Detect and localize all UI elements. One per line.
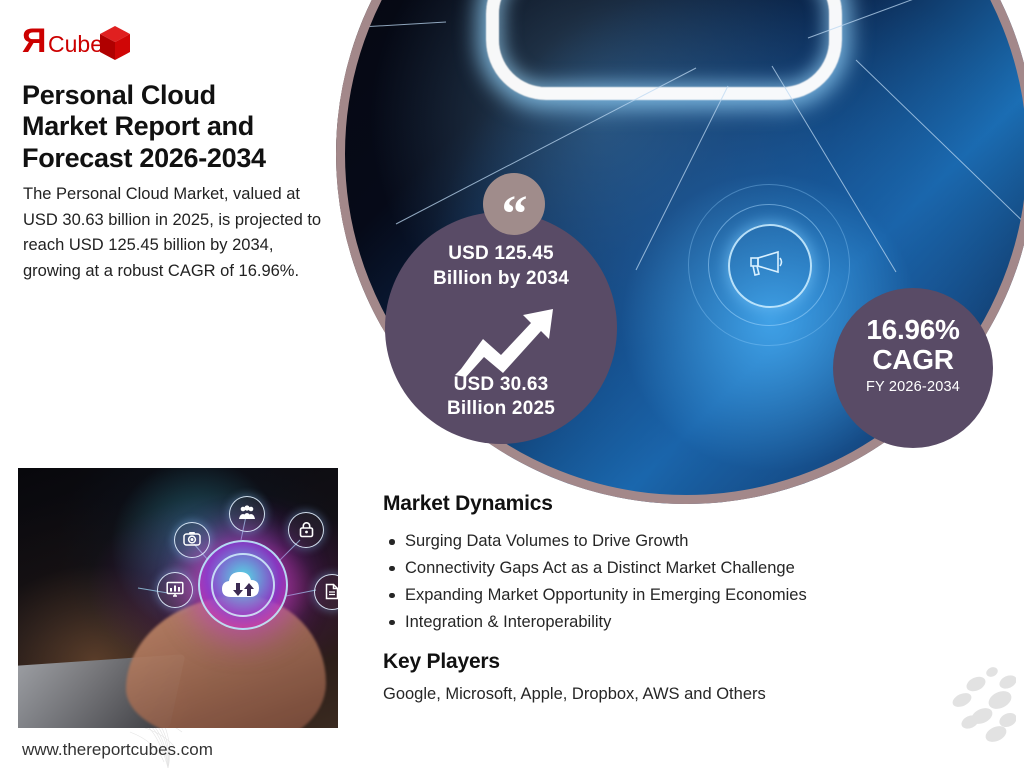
list-item: Integration & Interoperability — [405, 609, 807, 636]
cagr-percent: 16.96% — [833, 315, 993, 345]
key-players-heading: Key Players — [383, 650, 500, 674]
logo-cube-icon — [100, 26, 130, 60]
market-summary-text: The Personal Cloud Market, valued at USD… — [23, 182, 323, 284]
page-title-line-1: Personal Cloud — [22, 80, 340, 111]
base-year-value-line-2: Billion 2025 — [385, 397, 617, 422]
logo-word: Cube — [48, 31, 103, 57]
pebble-watermark-decoration — [920, 658, 1016, 748]
forecast-value: USD 125.45 Billion by 2034 — [385, 242, 617, 291]
page-title-line-3: Forecast 2026-2034 — [22, 143, 340, 174]
cloud-computing-photo — [18, 468, 338, 728]
cloud-hologram-icon — [198, 540, 288, 630]
cloud-upload-download-icon — [220, 569, 266, 601]
key-players-text: Google, Microsoft, Apple, Dropbox, AWS a… — [383, 685, 766, 704]
market-size-stat-circle: USD 125.45 Billion by 2034 USD 30.63 Bil… — [385, 212, 617, 444]
base-year-value: USD 30.63 Billion 2025 — [385, 373, 617, 422]
page-title-line-2: Market Report and — [22, 111, 340, 142]
megaphone-icon — [748, 250, 786, 276]
cagr-label: CAGR — [833, 345, 993, 375]
lock-icon — [288, 512, 324, 548]
quote-glyph: “ — [502, 186, 527, 243]
cagr-badge: 16.96% CAGR FY 2026-2034 — [833, 288, 993, 448]
list-item: Connectivity Gaps Act as a Distinct Mark… — [405, 555, 807, 582]
camera-icon — [174, 522, 210, 558]
market-dynamics-heading: Market Dynamics — [383, 492, 553, 516]
cagr-period: FY 2026-2034 — [833, 379, 993, 395]
rcube-logo[interactable]: Я Cube — [22, 16, 152, 66]
page-title: Personal Cloud Market Report and Forecas… — [22, 80, 340, 174]
people-icon — [229, 496, 265, 532]
market-dynamics-list: Surging Data Volumes to Drive Growth Con… — [383, 528, 807, 636]
list-item: Surging Data Volumes to Drive Growth — [405, 528, 807, 555]
base-year-value-line-1: USD 30.63 — [385, 373, 617, 398]
logo-mark-letter: Я — [22, 22, 46, 60]
growth-arrow-icon — [453, 305, 557, 377]
forecast-value-line-2: Billion by 2034 — [385, 267, 617, 292]
glow-light-streak-icon — [486, 0, 842, 100]
forecast-value-line-1: USD 125.45 — [385, 242, 617, 267]
quote-mark-badge: “ — [483, 173, 545, 235]
list-item: Expanding Market Opportunity in Emerging… — [405, 582, 807, 609]
website-url[interactable]: www.thereportcubes.com — [22, 740, 213, 760]
chart-monitor-icon — [157, 572, 193, 608]
